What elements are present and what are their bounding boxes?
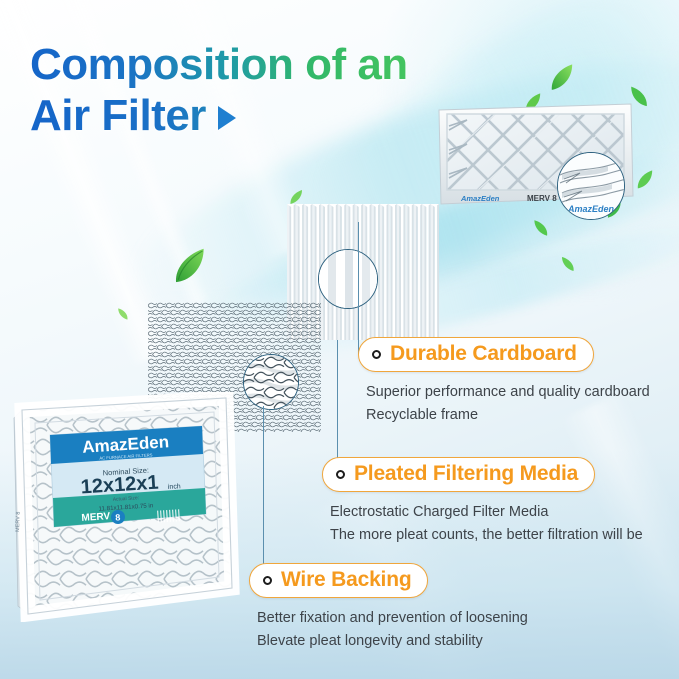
callout-wire-backing: Wire Backing Better fixation and prevent… <box>249 563 528 654</box>
callout-desc-durable-cardboard: Superior performance and quality cardboa… <box>366 381 650 428</box>
ring-bullet-icon <box>263 576 272 585</box>
callout-label-pleated-filtering-media: Pleated Filtering Media <box>354 462 578 486</box>
product-box-image: AmazEden AC FURNACE AIR FILTERS Nominal … <box>8 392 240 622</box>
ring-bullet-icon <box>372 350 381 359</box>
assembled-filter-image: AmazEden MERV 8 Superior Perfect Fit AC … <box>433 100 638 218</box>
page-title: Composition of an Air Filter <box>30 40 408 141</box>
callout-desc-line: Blevate pleat longevity and stability <box>257 630 528 653</box>
callout-desc-line: Better fixation and prevention of loosen… <box>257 607 528 630</box>
callout-desc-line: Recyclable frame <box>366 404 650 427</box>
leaf-icon-8 <box>558 252 578 276</box>
box-side-text: MERV 8 <box>15 511 22 532</box>
top-filter-inset-magnifier: AmazEden <box>557 152 625 220</box>
leader-line-cardboard <box>358 222 359 354</box>
callout-desc-line: Superior performance and quality cardboa… <box>366 381 650 404</box>
leaf-icon-2 <box>545 58 579 98</box>
callout-pill-wire-backing[interactable]: Wire Backing <box>249 563 428 598</box>
title-line-2-text: Air Filter <box>30 91 206 142</box>
callout-durable-cardboard: Durable Cardboard Superior performance a… <box>358 337 650 428</box>
poster-canvas: Composition of an Air Filter <box>0 0 679 679</box>
callout-desc-pleated-filtering-media: Electrostatic Charged Filter Media The m… <box>330 501 643 548</box>
box-merv-label: MERV <box>81 511 111 524</box>
callout-pill-pleated-filtering-media[interactable]: Pleated Filtering Media <box>322 457 595 492</box>
callout-pleated-filtering-media: Pleated Filtering Media Electrostatic Ch… <box>322 457 643 548</box>
pleat-magnifier <box>318 249 378 309</box>
leaf-icon-10 <box>115 305 131 323</box>
box-merv-value: 8 <box>115 512 121 522</box>
inset-brand-text: AmazEden <box>558 204 624 214</box>
filter-brand-text: AmazEden <box>460 194 500 203</box>
callout-label-wire-backing: Wire Backing <box>281 568 411 592</box>
mesh-magnifier <box>243 354 299 410</box>
triangle-right-icon <box>218 106 236 130</box>
filter-merv-text: MERV 8 <box>527 194 557 203</box>
leader-line-pleated <box>337 340 338 471</box>
leaf-icon-6 <box>530 215 552 241</box>
callout-label-durable-cardboard: Durable Cardboard <box>390 342 577 366</box>
callout-desc-wire-backing: Better fixation and prevention of loosen… <box>257 607 528 654</box>
callout-desc-line: The more pleat counts, the better filtra… <box>330 524 643 547</box>
callout-pill-durable-cardboard[interactable]: Durable Cardboard <box>358 337 594 372</box>
title-line-1: Composition of an <box>30 40 408 91</box>
ring-bullet-icon <box>336 470 345 479</box>
box-nominal-unit: inch <box>168 483 181 491</box>
leader-line-wire <box>263 406 264 579</box>
callout-desc-line: Electrostatic Charged Filter Media <box>330 501 643 524</box>
leaf-icon-1 <box>168 243 214 289</box>
title-line-2: Air Filter <box>30 91 408 142</box>
